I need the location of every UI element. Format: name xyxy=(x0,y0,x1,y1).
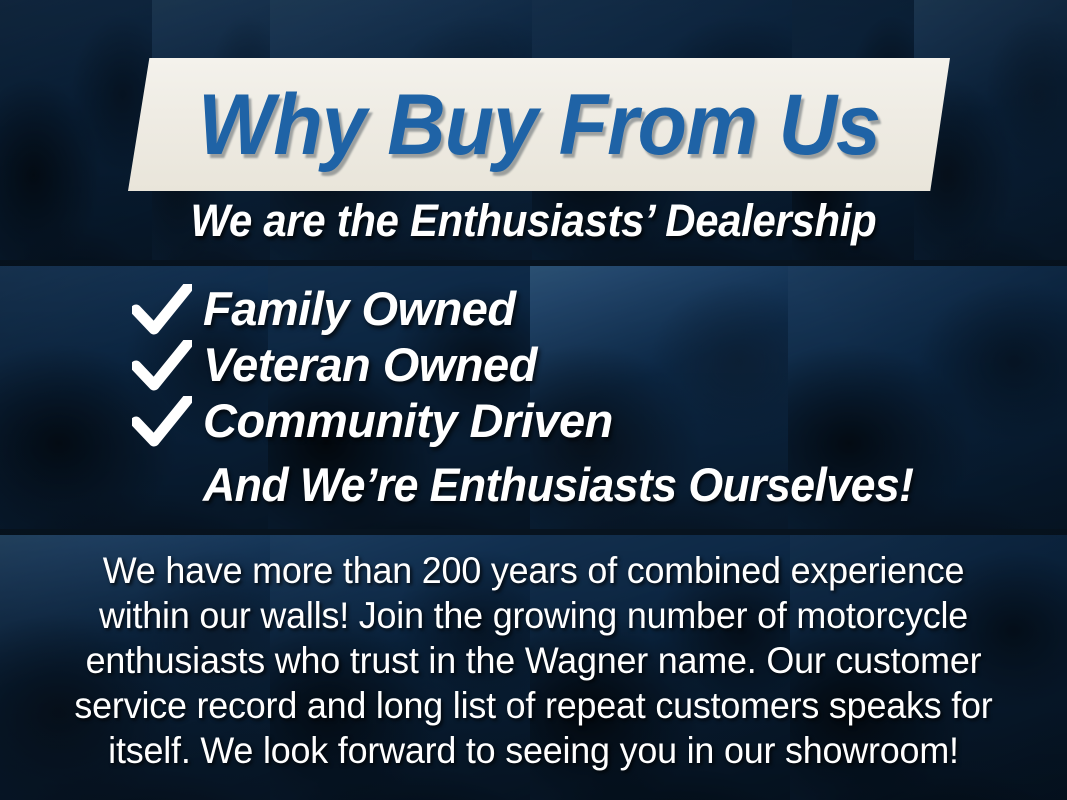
checklist-item-label: Community Driven xyxy=(203,396,613,445)
checklist-item: Community Driven xyxy=(0,400,1067,456)
checklist-item: Family Owned xyxy=(0,288,1067,344)
checklist: Family Owned Veteran Owned Community Dri… xyxy=(0,288,1067,456)
body-paragraph-text: We have more than 200 years of combined … xyxy=(55,548,1012,773)
checklist-item-label: Veteran Owned xyxy=(203,340,537,389)
checklist-item: Veteran Owned xyxy=(0,344,1067,400)
check-icon xyxy=(132,284,192,336)
check-icon xyxy=(132,340,192,392)
checklist-item-label: Family Owned xyxy=(203,284,516,333)
subtitle: We are the Enthusiasts’ Dealership xyxy=(37,196,1029,246)
check-icon xyxy=(132,396,192,448)
body-paragraph: We have more than 200 years of combined … xyxy=(55,548,1012,773)
page-title: Why Buy From Us xyxy=(153,58,926,191)
checklist-tagline: And We’re Enthusiasts Ourselves! xyxy=(203,460,913,509)
why-buy-from-us-banner: Why Buy From Us We are the Enthusiasts’ … xyxy=(0,0,1067,800)
title-banner: Why Buy From Us xyxy=(128,58,950,191)
